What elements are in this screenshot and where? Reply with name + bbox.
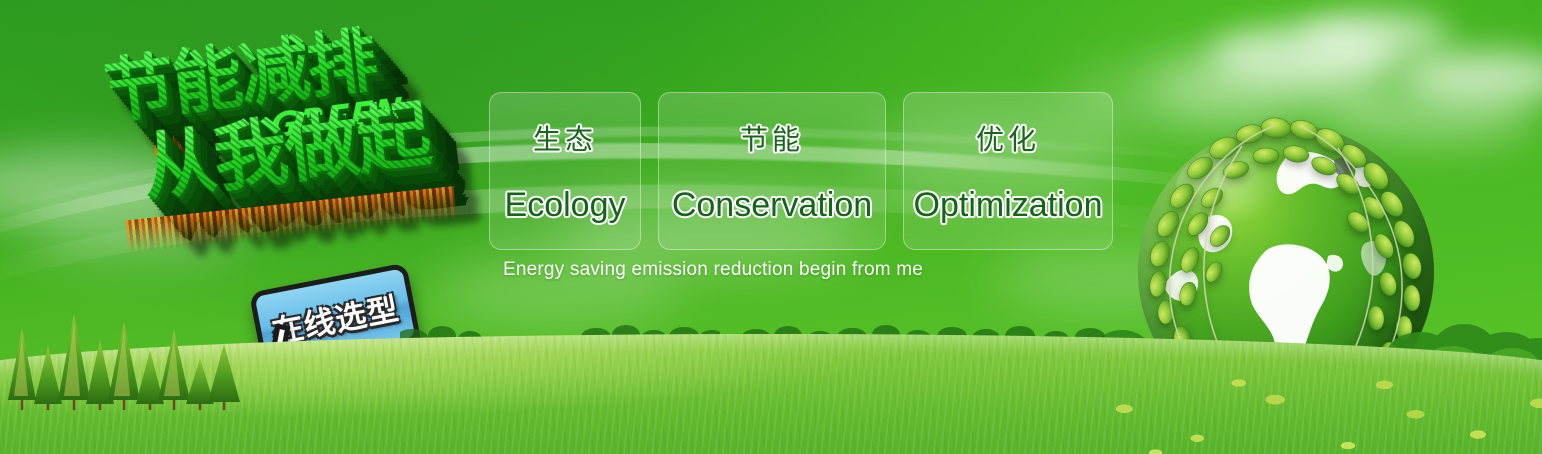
feature-card-title-en: Conservation: [672, 186, 872, 225]
feature-card-title-en: Optimization: [914, 186, 1103, 225]
headline-line-1: 节能减排: [101, 11, 489, 129]
headline-line-2: 从我做起: [138, 88, 499, 207]
globe-highlight: [1176, 150, 1286, 226]
feature-card-title-cn: 生态: [533, 118, 597, 158]
banner-subtitle: Energy saving emission reduction begin f…: [503, 259, 923, 281]
headline-artwork: 节能减排 GREEN 从我做起: [83, 11, 509, 298]
grass-field: [0, 334, 1542, 454]
feature-cards: 生态 Ecology 节能 Conservation 优化 Optimizati…: [489, 92, 1113, 250]
fallen-leaves: [1062, 372, 1542, 454]
eco-promo-banner: 节能减排 GREEN 从我做起 在线选型 生态 Ecology 节能 Conse…: [0, 0, 1542, 454]
feature-card-optimization[interactable]: 优化 Optimization: [903, 92, 1113, 250]
feature-card-title-cn: 优化: [976, 118, 1040, 158]
ember-texture-base: [125, 186, 457, 260]
feature-card-ecology[interactable]: 生态 Ecology: [489, 92, 641, 250]
feature-card-title-en: Ecology: [505, 186, 626, 225]
ember-texture: [151, 117, 195, 156]
feature-card-title-cn: 节能: [740, 118, 804, 158]
headline-green-word: GREEN: [270, 90, 404, 147]
feature-card-conservation[interactable]: 节能 Conservation: [658, 92, 886, 250]
